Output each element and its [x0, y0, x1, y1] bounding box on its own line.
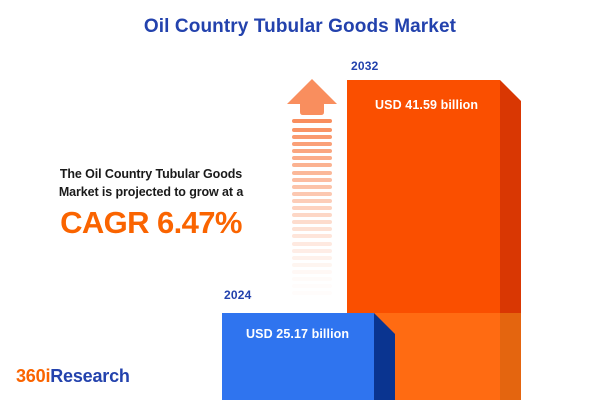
arrow-trail-rung: [292, 185, 332, 189]
narrative-line-2: Market is projected to grow at a: [59, 185, 243, 199]
arrow-trail-rung: [292, 135, 332, 139]
arrow-trail-rung: [292, 284, 332, 288]
arrow-trail-rung: [292, 220, 332, 224]
arrow-trail-rung: [292, 270, 332, 274]
bar-value-2032: USD 41.59 billion: [375, 98, 478, 112]
arrow-trail-rung: [292, 256, 332, 260]
arrow-trail-rung: [292, 242, 332, 246]
arrow-trail-rung: [292, 192, 332, 196]
bar-label-2032: 2032: [351, 59, 379, 73]
arrow-trail-rung: [292, 206, 332, 210]
bar-label-2024: 2024: [224, 288, 252, 302]
bar-2032-side-chamfer: [500, 80, 521, 101]
arrow-trail-rung: [292, 142, 332, 146]
cagr-value: CAGR 6.47%: [20, 205, 282, 241]
narrative-line-1: The Oil Country Tubular Goods: [60, 167, 242, 181]
narrative-block: The Oil Country Tubular Goods Market is …: [20, 165, 282, 241]
arrow-trail-rung: [292, 128, 332, 132]
arrow-trail-rung: [292, 213, 332, 217]
arrow-trail-rung: [292, 263, 332, 267]
arrow-trail-rung: [292, 171, 332, 175]
bar-2024-side-face: [374, 334, 395, 400]
arrow-up-icon: [286, 78, 338, 126]
arrow-trail-rung: [292, 277, 332, 281]
market-infographic: Oil Country Tubular Goods Market 2032 20…: [0, 0, 600, 400]
arrow-trail: [292, 128, 332, 293]
arrow-trail-rung: [292, 178, 332, 182]
arrow-trail-rung: [292, 249, 332, 253]
bar-value-2024: USD 25.17 billion: [246, 327, 349, 341]
logo-text-360: 360: [16, 366, 45, 386]
arrow-trail-rung: [292, 199, 332, 203]
brand-logo: 360iResearch: [16, 366, 130, 387]
arrow-trail-rung: [292, 163, 332, 167]
growth-arrow: [286, 78, 338, 293]
arrow-trail-rung: [292, 291, 332, 295]
arrow-trail-rung: [292, 227, 332, 231]
narrative-text: The Oil Country Tubular Goods Market is …: [20, 165, 282, 201]
arrow-trail-rung: [292, 156, 332, 160]
bar-2032-overlap-side-face: [500, 313, 521, 400]
arrow-trail-rung: [292, 234, 332, 238]
bar-2024-side-chamfer: [374, 313, 395, 334]
arrow-trail-rung: [292, 149, 332, 153]
logo-text-research: Research: [50, 366, 129, 386]
